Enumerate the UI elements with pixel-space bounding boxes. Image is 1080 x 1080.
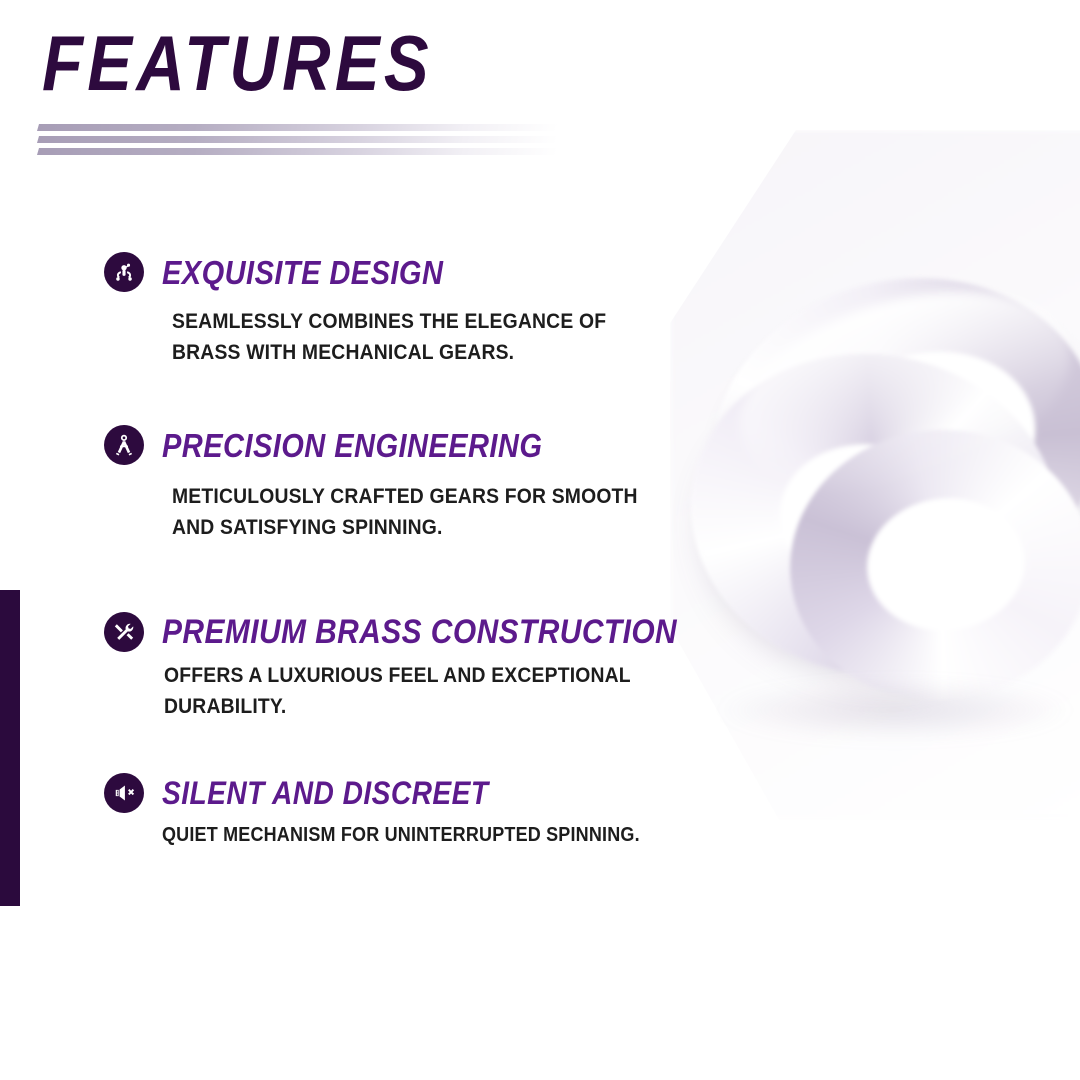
page-title-block: FEATURES xyxy=(42,28,662,100)
title-rule-3 xyxy=(37,148,559,155)
feature-title: PRECISION ENGINEERING xyxy=(162,429,542,462)
feature-description: SEAMLESSLY COMBINES THE ELEGANCE OF BRAS… xyxy=(172,306,741,367)
title-underline-rules xyxy=(38,124,558,160)
feature-header: EXQUISITE DESIGN xyxy=(104,252,804,292)
feature-item: PRECISION ENGINEERING METICULOUSLY CRAFT… xyxy=(104,425,804,542)
feature-description: OFFERS A LUXURIOUS FEEL AND EXCEPTIONAL … xyxy=(164,660,740,721)
feature-header: PREMIUM BRASS CONSTRUCTION xyxy=(104,612,804,652)
feature-header: SILENT AND DISCREET xyxy=(104,773,804,813)
speaker-mute-icon xyxy=(104,773,144,813)
feature-item: EXQUISITE DESIGN SEAMLESSLY COMBINES THE… xyxy=(104,252,804,367)
left-accent-bar xyxy=(0,590,20,906)
title-rule-2 xyxy=(37,136,559,143)
feature-description: QUIET MECHANISM FOR UNINTERRUPTED SPINNI… xyxy=(162,821,740,849)
feature-title: EXQUISITE DESIGN xyxy=(162,256,443,289)
feature-list: EXQUISITE DESIGN SEAMLESSLY COMBINES THE… xyxy=(104,252,804,883)
page-title: FEATURES xyxy=(42,28,575,100)
feature-title: PREMIUM BRASS CONSTRUCTION xyxy=(162,615,677,649)
feature-description: METICULOUSLY CRAFTED GEARS FOR SMOOTH AN… xyxy=(172,481,741,542)
molecule-icon xyxy=(104,252,144,292)
poster-canvas: FEATURES xyxy=(0,0,1080,1080)
title-rule-1 xyxy=(37,124,559,131)
feature-item: SILENT AND DISCREET QUIET MECHANISM FOR … xyxy=(104,773,804,849)
feature-title: SILENT AND DISCREET xyxy=(162,777,488,809)
feature-item: PREMIUM BRASS CONSTRUCTION OFFERS A LUXU… xyxy=(104,612,804,721)
feature-header: PRECISION ENGINEERING xyxy=(104,425,804,465)
tools-icon xyxy=(104,612,144,652)
ring-inner xyxy=(777,415,1080,715)
compass-icon xyxy=(104,425,144,465)
